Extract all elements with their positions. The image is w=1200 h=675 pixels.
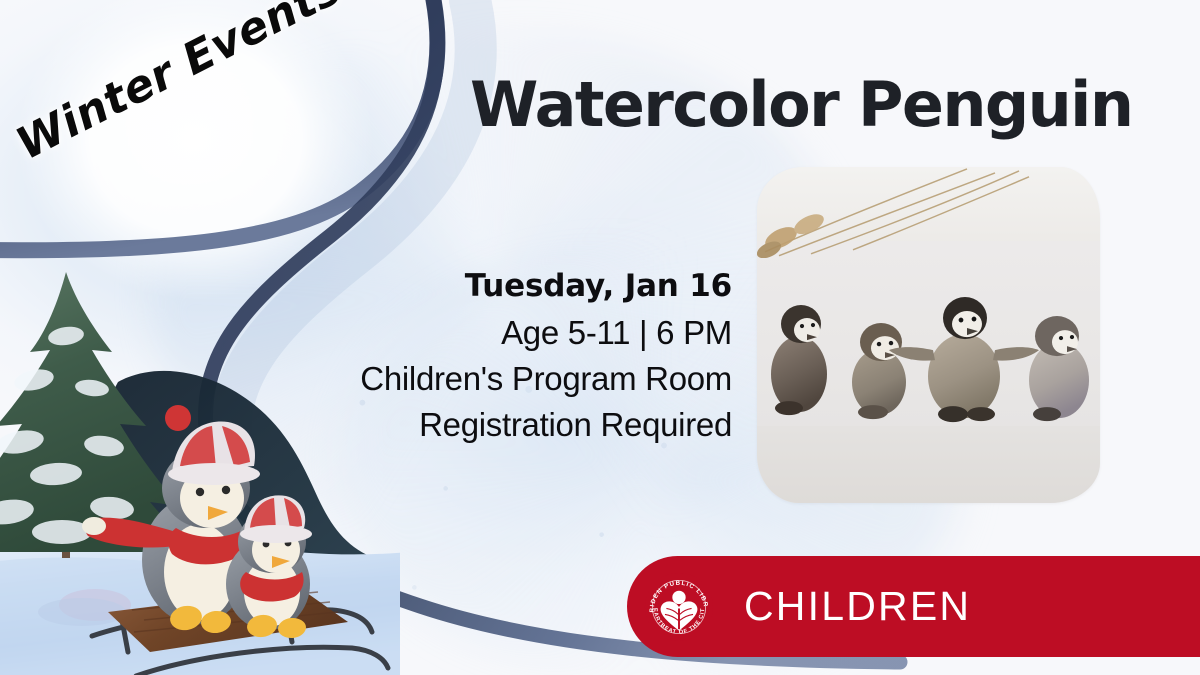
event-age-time: Age 5-11 | 6 PM <box>180 310 732 356</box>
event-location: Children's Program Room <box>180 356 732 402</box>
event-flyer: Winter Events Watercolor Penguin Tuesday… <box>0 0 1200 675</box>
event-date: Tuesday, Jan 16 <box>180 262 732 310</box>
series-badge-label: Winter Events <box>8 0 349 170</box>
series-badge: Winter Events <box>6 26 366 196</box>
audience-category-label: CHILDREN <box>744 586 971 627</box>
event-details: Tuesday, Jan 16 Age 5-11 | 6 PM Children… <box>180 262 732 448</box>
penguin-photo-panel <box>757 167 1100 503</box>
penguin-chick-3 <box>889 297 1039 422</box>
event-registration-note: Registration Required <box>180 402 732 448</box>
library-logo-mark: MERIDEN PUBLIC LIBRARY HEARTBEAT OF THE … <box>642 570 716 644</box>
page-title: Watercolor Penguin <box>470 72 1130 137</box>
dried-grass-stems <box>757 167 1100 258</box>
watercolor-penguin-chicks <box>757 254 1100 442</box>
library-logo: MERIDEN PUBLIC LIBRARY HEARTBEAT OF THE … <box>642 570 716 644</box>
category-footer-bar: MERIDEN PUBLIC LIBRARY HEARTBEAT OF THE … <box>627 556 1200 657</box>
penguin-chick-1 <box>771 305 827 415</box>
penguin-chick-2 <box>852 323 906 419</box>
penguin-chick-4 <box>1029 316 1089 421</box>
